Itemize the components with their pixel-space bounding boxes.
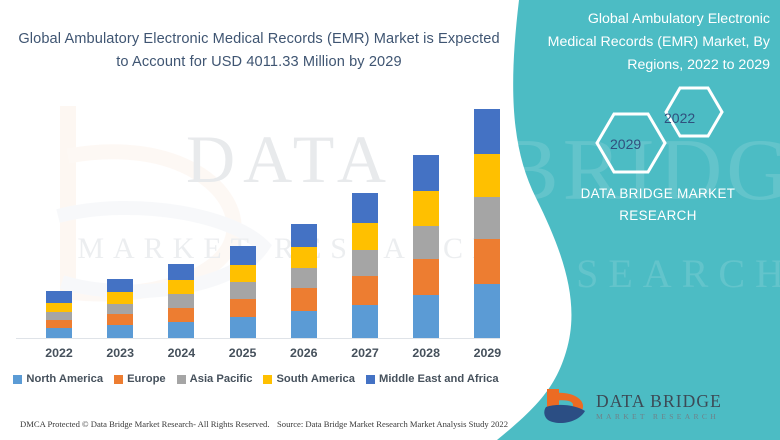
hexagon-label-2029: 2029 (610, 136, 641, 152)
legend-item-north-america[interactable]: North America (13, 373, 103, 385)
bar-segment-south-america-2028 (413, 191, 439, 225)
bar-segment-europe-2028 (413, 259, 439, 295)
bar-segment-middle-east-and-africa-2024 (168, 264, 194, 280)
chart-legend: North AmericaEuropeAsia PacificSouth Ame… (0, 373, 512, 385)
stacked-bar-chart (0, 95, 512, 345)
bar-segment-europe-2026 (291, 288, 317, 310)
logo-text-block: DATA BRIDGE MARKET RESEARCH (596, 392, 722, 422)
bar-segment-north-america-2027 (352, 305, 378, 338)
legend-label: Europe (127, 373, 166, 385)
bar-segment-north-america-2025 (230, 317, 256, 338)
brand-logo: DATA BRIDGE MARKET RESEARCH (542, 382, 752, 432)
bar-2025 (230, 246, 256, 338)
bar-segment-north-america-2029 (474, 284, 500, 338)
panel-brand-text: DATA BRIDGE MARKET RESEARCH (546, 183, 770, 227)
bar-segment-europe-2029 (474, 239, 500, 285)
x-axis-label-2024: 2024 (155, 346, 207, 360)
bar-segment-south-america-2029 (474, 154, 500, 198)
bar-segment-asia-pacific-2029 (474, 197, 500, 239)
x-axis-label-2028: 2028 (400, 346, 452, 360)
x-axis-label-2029: 2029 (461, 346, 513, 360)
legend-label: North America (26, 373, 103, 385)
bar-segment-asia-pacific-2028 (413, 226, 439, 259)
bar-segment-middle-east-and-africa-2027 (352, 193, 378, 222)
legend-item-europe[interactable]: Europe (114, 373, 166, 385)
bar-2026 (291, 224, 317, 338)
x-axis-label-2025: 2025 (217, 346, 269, 360)
bar-segment-asia-pacific-2027 (352, 250, 378, 276)
bar-segment-south-america-2027 (352, 223, 378, 250)
bar-segment-middle-east-and-africa-2022 (46, 291, 72, 302)
bar-segment-south-america-2024 (168, 280, 194, 294)
hexagon-group: 2029 2022 (588, 84, 728, 180)
page-title: Global Ambulatory Electronic Medical Rec… (14, 28, 504, 74)
bar-segment-asia-pacific-2022 (46, 312, 72, 320)
bar-segment-south-america-2022 (46, 303, 72, 312)
chart-baseline (16, 338, 500, 339)
bar-2024 (168, 264, 194, 338)
chart-plot-area (16, 95, 506, 338)
hexagon-label-2022: 2022 (664, 110, 695, 126)
legend-item-south-america[interactable]: South America (263, 373, 355, 385)
bar-segment-europe-2022 (46, 320, 72, 328)
legend-label: Middle East and Africa (379, 373, 499, 385)
legend-label: South America (276, 373, 355, 385)
bar-segment-asia-pacific-2024 (168, 294, 194, 307)
legend-swatch-icon (263, 375, 272, 384)
logo-mark-icon (542, 385, 588, 429)
legend-label: Asia Pacific (190, 373, 253, 385)
footer-source: Source: Data Bridge Market Research Mark… (277, 419, 508, 429)
bar-2022 (46, 291, 72, 338)
bar-segment-europe-2024 (168, 308, 194, 322)
x-axis-label-2022: 2022 (33, 346, 85, 360)
legend-swatch-icon (177, 375, 186, 384)
bar-segment-north-america-2023 (107, 325, 133, 338)
bar-segment-north-america-2022 (46, 328, 72, 338)
bar-segment-middle-east-and-africa-2023 (107, 279, 133, 292)
bar-segment-middle-east-and-africa-2025 (230, 246, 256, 265)
bar-segment-asia-pacific-2025 (230, 282, 256, 298)
bar-2028 (413, 155, 439, 338)
bar-segment-asia-pacific-2026 (291, 268, 317, 288)
bar-2027 (352, 193, 378, 338)
legend-swatch-icon (366, 375, 375, 384)
bar-segment-north-america-2024 (168, 322, 194, 338)
bar-segment-middle-east-and-africa-2026 (291, 224, 317, 247)
footer-copyright: DMCA Protected © Data Bridge Market Rese… (20, 419, 270, 429)
logo-secondary-text: MARKET RESEARCH (596, 411, 722, 422)
bar-segment-middle-east-and-africa-2029 (474, 109, 500, 154)
legend-swatch-icon (13, 375, 22, 384)
bar-segment-south-america-2025 (230, 265, 256, 282)
legend-swatch-icon (114, 375, 123, 384)
bar-segment-north-america-2028 (413, 295, 439, 338)
bar-segment-europe-2027 (352, 276, 378, 304)
bar-segment-south-america-2023 (107, 292, 133, 303)
watermark-research: RESEARCH (505, 250, 780, 297)
infographic-root: BRIDGE RESEARCH DATA MARKET RESEARCH Glo… (0, 0, 780, 440)
bar-segment-asia-pacific-2023 (107, 304, 133, 314)
panel-title: Global Ambulatory Electronic Medical Rec… (546, 8, 770, 77)
bar-2023 (107, 279, 133, 338)
chart-x-axis: 20222023202420252026202720282029 (0, 346, 512, 368)
x-axis-label-2026: 2026 (278, 346, 330, 360)
logo-primary-text: DATA BRIDGE (596, 392, 722, 411)
bar-segment-south-america-2026 (291, 247, 317, 268)
legend-item-middle-east-and-africa[interactable]: Middle East and Africa (366, 373, 499, 385)
bar-segment-north-america-2026 (291, 311, 317, 338)
x-axis-label-2023: 2023 (94, 346, 146, 360)
bar-segment-europe-2023 (107, 314, 133, 325)
bar-segment-europe-2025 (230, 299, 256, 317)
bar-2029 (474, 109, 500, 338)
bar-segment-middle-east-and-africa-2028 (413, 155, 439, 191)
legend-item-asia-pacific[interactable]: Asia Pacific (177, 373, 253, 385)
x-axis-label-2027: 2027 (339, 346, 391, 360)
